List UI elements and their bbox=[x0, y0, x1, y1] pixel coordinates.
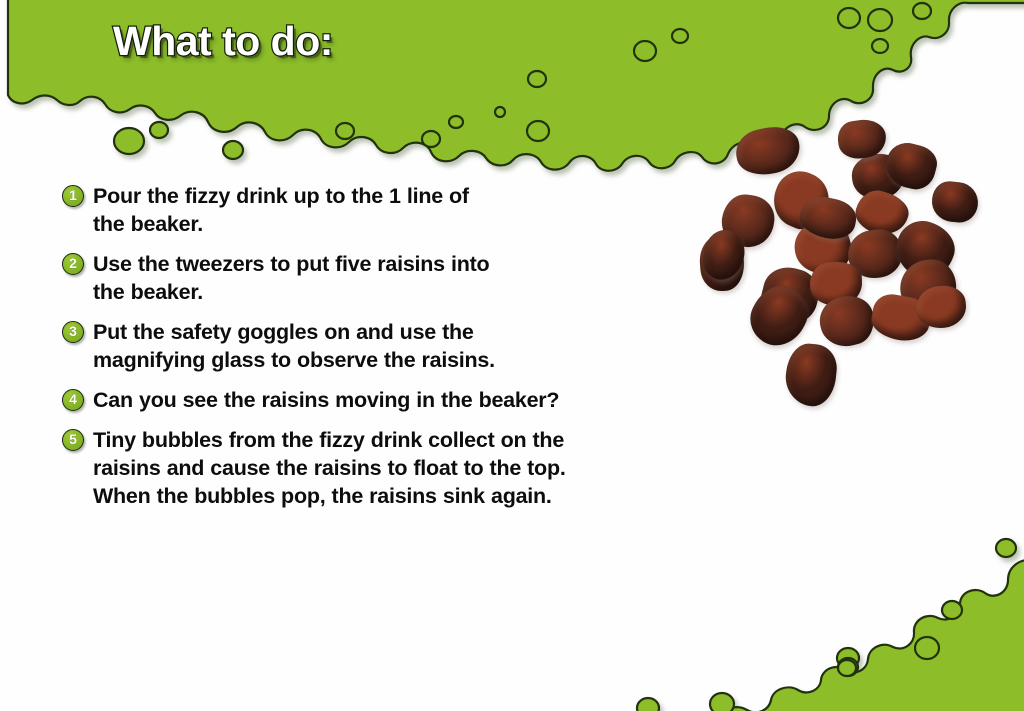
step-text: Tiny bubbles from the fizzy drink collec… bbox=[93, 426, 566, 510]
list-item: 4 Can you see the raisins moving in the … bbox=[62, 386, 702, 414]
step-number-badge: 2 bbox=[62, 253, 84, 275]
step-line: Use the tweezers to put five raisins int… bbox=[93, 250, 489, 278]
step-text: Use the tweezers to put five raisins int… bbox=[93, 250, 489, 306]
step-line: Tiny bubbles from the fizzy drink collec… bbox=[93, 426, 566, 454]
step-text: Put the safety goggles on and use the ma… bbox=[93, 318, 495, 374]
step-line: the beaker. bbox=[93, 210, 469, 238]
step-number-badge: 5 bbox=[62, 429, 84, 451]
step-line: magnifying glass to observe the raisins. bbox=[93, 346, 495, 374]
worksheet-page: What to do: 1 Pour the fizzy drink up to… bbox=[0, 0, 1024, 711]
step-line: Put the safety goggles on and use the bbox=[93, 318, 495, 346]
raisin bbox=[930, 180, 980, 225]
raisin bbox=[783, 342, 839, 409]
green-splat-bottom-right bbox=[637, 539, 1024, 711]
step-line: When the bubbles pop, the raisins sink a… bbox=[93, 482, 566, 510]
step-text: Can you see the raisins moving in the be… bbox=[93, 386, 559, 414]
step-line: the beaker. bbox=[93, 278, 489, 306]
list-item: 1 Pour the fizzy drink up to the 1 line … bbox=[62, 182, 702, 238]
step-text: Pour the fizzy drink up to the 1 line of… bbox=[93, 182, 469, 238]
list-item: 2 Use the tweezers to put five raisins i… bbox=[62, 250, 702, 306]
page-title: What to do: bbox=[113, 18, 333, 65]
step-line: raisins and cause the raisins to float t… bbox=[93, 454, 566, 482]
step-number-badge: 4 bbox=[62, 389, 84, 411]
list-item: 5 Tiny bubbles from the fizzy drink coll… bbox=[62, 426, 702, 510]
instruction-steps-list: 1 Pour the fizzy drink up to the 1 line … bbox=[62, 182, 702, 522]
step-number-badge: 1 bbox=[62, 185, 84, 207]
raisins-photo bbox=[700, 110, 1000, 410]
step-line: Pour the fizzy drink up to the 1 line of bbox=[93, 182, 469, 210]
list-item: 3 Put the safety goggles on and use the … bbox=[62, 318, 702, 374]
step-line: Can you see the raisins moving in the be… bbox=[93, 386, 559, 414]
step-number-badge: 3 bbox=[62, 321, 84, 343]
